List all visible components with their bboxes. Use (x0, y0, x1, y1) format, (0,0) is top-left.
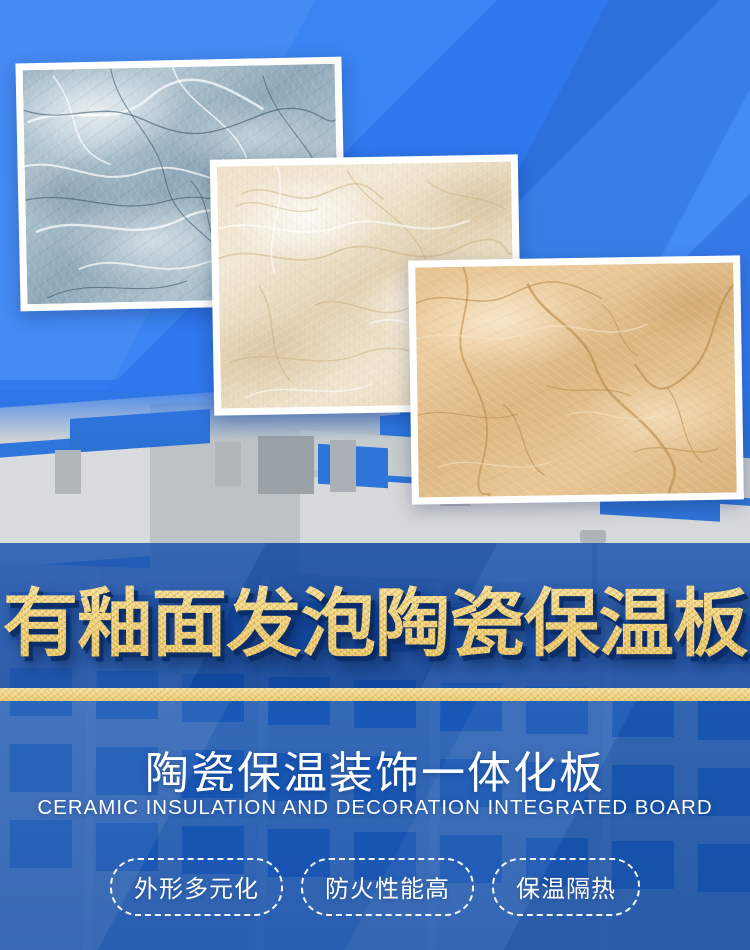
tile-3-veins (415, 263, 733, 268)
subtitle-chinese: 陶瓷保温装饰一体化板 (0, 737, 750, 801)
building-column-1 (55, 450, 81, 494)
building-column-4 (330, 440, 356, 492)
feature-tag-1[interactable]: 外形多元化 (110, 858, 283, 916)
tile-swatch-3-face (415, 263, 737, 498)
tile-swatch-3 (408, 255, 744, 504)
subtitle-english: CERAMIC INSULATION AND DECORATION INTEGR… (0, 796, 750, 820)
tile-2-veins (217, 161, 511, 166)
gold-divider-bar (0, 688, 750, 701)
tile-1-veins (23, 64, 335, 71)
main-title: 有釉面发泡陶瓷保温板 (0, 578, 750, 670)
building-column-3 (258, 436, 314, 494)
feature-tag-3[interactable]: 保温隔热 (492, 858, 640, 916)
main-title-band: 有釉面发泡陶瓷保温板 (0, 578, 750, 678)
feature-tag-list: 外形多元化 防火性能高 保温隔热 (0, 858, 750, 916)
light-pole-head (580, 530, 606, 543)
feature-tag-2[interactable]: 防火性能高 (301, 858, 474, 916)
product-banner: 有釉面发泡陶瓷保温板 陶瓷保温装饰一体化板 CERAMIC INSULATION… (0, 0, 750, 950)
building-column-2 (215, 442, 241, 486)
